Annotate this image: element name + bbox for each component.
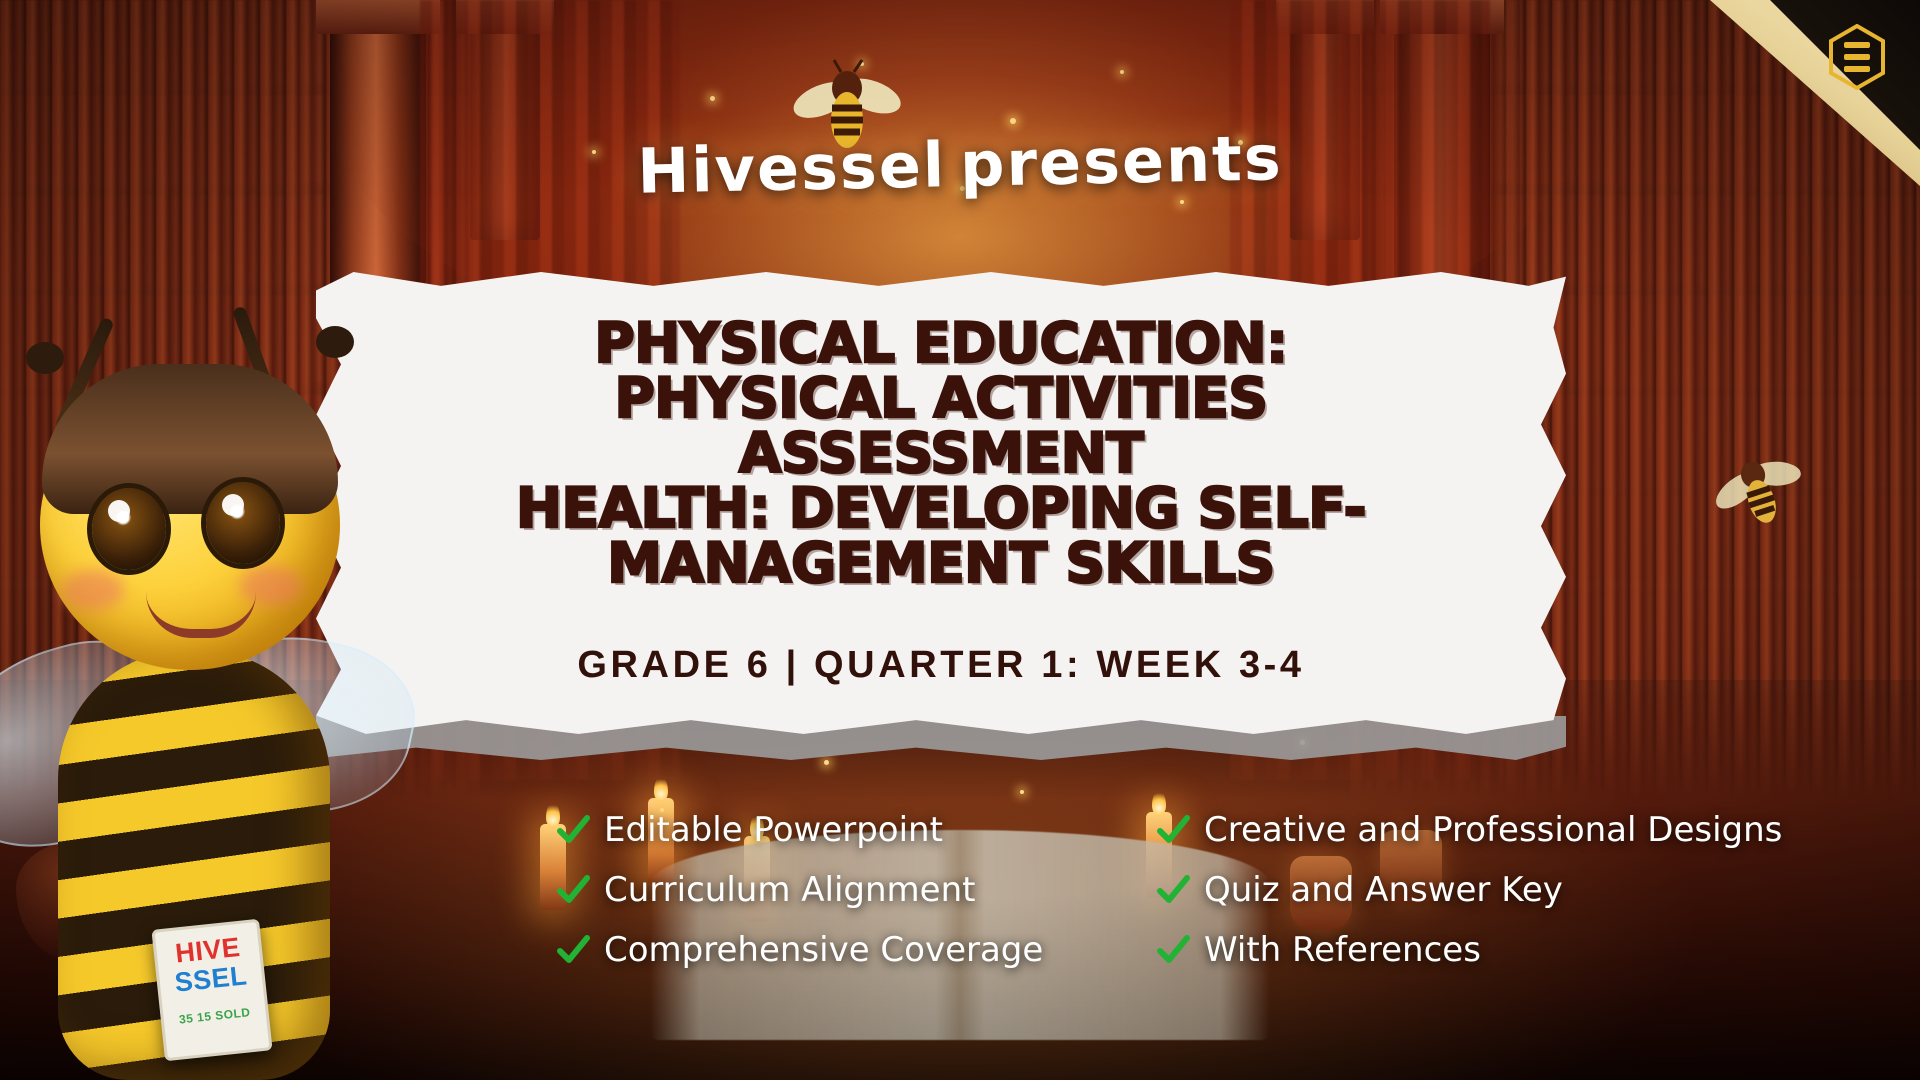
title-line-3: ASSESSMENT xyxy=(316,426,1566,481)
check-icon xyxy=(1156,873,1190,907)
title-line-2: PHYSICAL ACTIVITIES xyxy=(316,371,1566,426)
title-line-4: HEALTH: DEVELOPING SELF- xyxy=(316,481,1566,536)
feature-item: Quiz and Answer Key xyxy=(1156,870,1816,910)
mascot-book-badge: HIVE SSEL 35 15 SOLD xyxy=(151,919,272,1062)
brand-name: Hivessel xyxy=(637,128,947,207)
check-icon xyxy=(556,933,590,967)
feature-item: Editable Powerpoint xyxy=(556,810,1156,850)
feature-item: Curriculum Alignment xyxy=(556,870,1156,910)
check-icon xyxy=(556,873,590,907)
poster-canvas: Hivesselpresents PHYSICAL EDUCATION: PHY… xyxy=(0,0,1920,1080)
presents-tagline: Hivesselpresents xyxy=(637,121,1284,207)
eye-left xyxy=(92,488,166,570)
grade-quarter-subtitle: GRADE 6 | QUARTER 1: WEEK 3-4 xyxy=(316,644,1566,687)
antenna-bulb-left xyxy=(26,342,64,374)
title-line-5: MANAGEMENT SKILLS xyxy=(316,536,1566,591)
feature-label: With References xyxy=(1204,930,1481,970)
eye-right xyxy=(206,482,280,564)
page-title: PHYSICAL EDUCATION: PHYSICAL ACTIVITIES … xyxy=(316,316,1566,591)
check-icon xyxy=(556,813,590,847)
title-line-1: PHYSICAL EDUCATION: xyxy=(316,316,1566,371)
feature-item: Creative and Professional Designs xyxy=(1156,810,1816,850)
feature-label: Creative and Professional Designs xyxy=(1204,810,1782,850)
check-icon xyxy=(1156,813,1190,847)
feature-label: Curriculum Alignment xyxy=(604,870,975,910)
antenna-bulb-right xyxy=(316,326,354,358)
hivessel-logo-icon xyxy=(1828,24,1886,90)
feature-label: Quiz and Answer Key xyxy=(1204,870,1563,910)
bee-mascot: HIVE SSEL 35 15 SOLD xyxy=(0,320,440,1080)
feature-label: Comprehensive Coverage xyxy=(604,930,1043,970)
feature-list: Editable Powerpoint Curriculum Alignment… xyxy=(556,800,1916,980)
check-icon xyxy=(1156,933,1190,967)
feature-item: With References xyxy=(1156,930,1816,970)
cheek-left xyxy=(62,570,124,610)
feature-item: Comprehensive Coverage xyxy=(556,930,1156,970)
bee-hair xyxy=(42,364,338,514)
presents-word: presents xyxy=(959,121,1283,201)
book-badge-line-3: 35 15 SOLD xyxy=(163,1004,266,1029)
feature-label: Editable Powerpoint xyxy=(604,810,943,850)
